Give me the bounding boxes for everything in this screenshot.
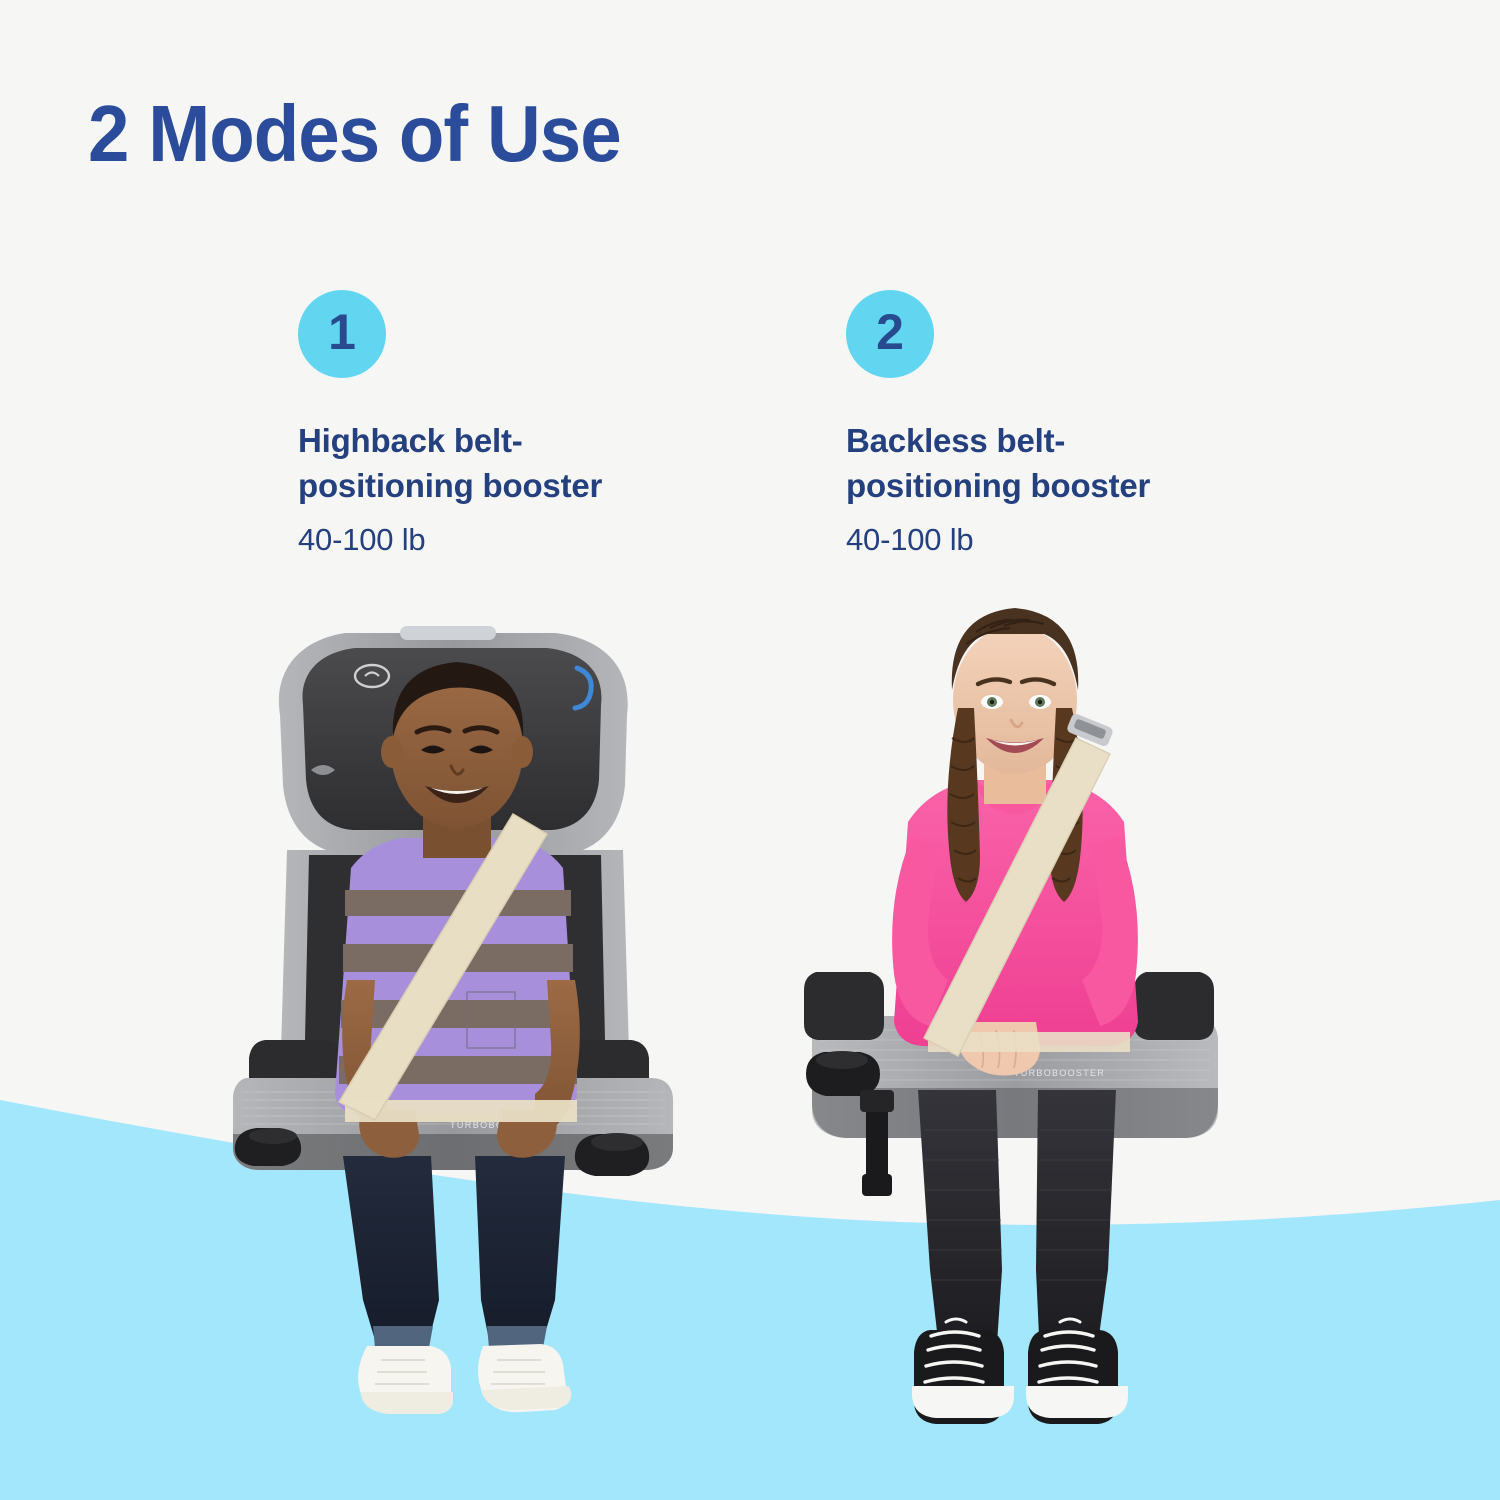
mode-weight-range-1: 40-100 lb [298, 520, 718, 560]
photo-backless-booster: TURBOBOOSTER [800, 570, 1230, 1450]
high-top-sneaker-right [1026, 1319, 1128, 1424]
mode-number-label-1: 1 [328, 307, 356, 357]
eye-right-2 [1029, 695, 1051, 709]
mode-number-label-2: 2 [876, 307, 904, 357]
latch-strap [860, 1090, 894, 1196]
armrest-right [1134, 972, 1214, 1040]
page-title: 2 Modes of Use [88, 88, 621, 180]
sneaker-right [478, 1344, 571, 1412]
highback-booster-illustration: TURBOBOOSTER [225, 600, 685, 1430]
eye-left-2 [981, 695, 1003, 709]
mode-number-badge-1: 1 [298, 290, 386, 378]
mode-heading-1: Highback belt-positioning booster [298, 418, 638, 508]
headrest-adjust-handle [400, 626, 496, 640]
mode-heading-2: Backless belt-positioning booster [846, 418, 1186, 508]
mode-column-2: 2 Backless belt-positioning booster 40-1… [846, 290, 1266, 560]
sneaker-left [358, 1346, 453, 1414]
mode-number-badge-2: 2 [846, 290, 934, 378]
photo-highback-booster: TURBOBOOSTER [225, 600, 685, 1430]
backless-booster-illustration: TURBOBOOSTER [800, 570, 1230, 1450]
high-top-sneaker-left [912, 1319, 1014, 1424]
armrest-left [804, 972, 884, 1040]
mode-weight-range-2: 40-100 lb [846, 520, 1266, 560]
mode-column-1: 1 Highback belt-positioning booster 40-1… [298, 290, 718, 560]
